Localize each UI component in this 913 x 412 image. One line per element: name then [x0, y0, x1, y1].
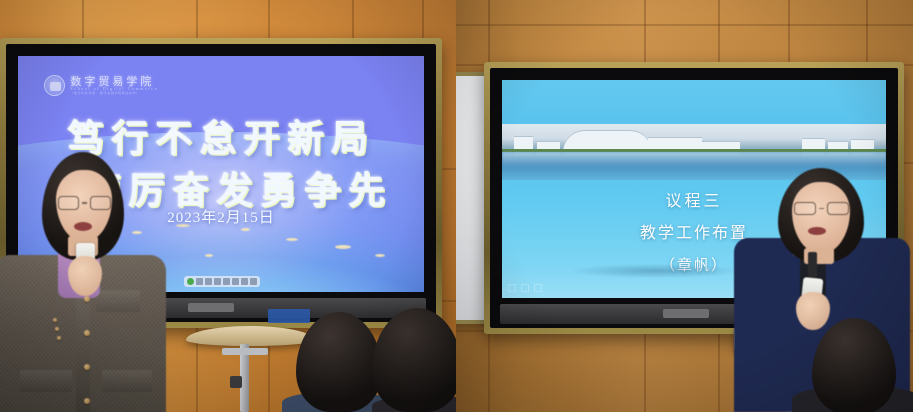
globe-light [132, 231, 142, 234]
bridge [819, 208, 824, 209]
jacket-hip-pocket [102, 370, 152, 392]
school-name-sub: （数字商务学院 · 数字金融学院联合办学） [70, 92, 158, 95]
sleeve-button [57, 336, 61, 340]
jacket-chest-pocket [96, 290, 140, 312]
pointer-icon[interactable] [205, 278, 212, 285]
right-photo-panel: 议程三 教学工作布置 （章帆） [456, 0, 913, 412]
globe-light [335, 245, 351, 249]
next-icon[interactable] [534, 284, 542, 292]
jacket-button [84, 398, 90, 404]
sleeve-button [53, 318, 57, 322]
left-photo-panel: 数字贸易学院 School of Digital Commerce （数字商务学… [0, 0, 456, 412]
prev-icon[interactable] [508, 284, 516, 292]
water-reflection [502, 152, 886, 167]
more-icon[interactable] [250, 278, 257, 285]
bridge [82, 202, 87, 203]
jacket-hip-pocket [20, 370, 72, 392]
jacket-button [84, 330, 90, 336]
lens-right [90, 196, 111, 210]
undo-icon[interactable] [241, 278, 248, 285]
lectern-crossbar-left [222, 348, 268, 355]
university-crest-icon [44, 75, 65, 96]
eyeglasses [794, 202, 849, 215]
pen-icon[interactable] [214, 278, 221, 285]
eyeglasses [58, 196, 111, 210]
shape-icon[interactable] [232, 278, 239, 285]
jacket-button [84, 296, 90, 302]
mouth [808, 227, 826, 235]
tray-nub [663, 309, 709, 318]
play-icon[interactable] [521, 284, 529, 292]
mouth [74, 222, 92, 231]
school-logo: 数字贸易学院 School of Digital Commerce （数字商务学… [44, 75, 158, 96]
photo-collage: 数字贸易学院 School of Digital Commerce （数字商务学… [0, 0, 913, 412]
ppt-nav-controls[interactable] [508, 284, 542, 292]
globe-light [286, 238, 298, 241]
record-icon[interactable] [187, 278, 194, 285]
lectern-clamp-left [230, 376, 242, 388]
grid-icon[interactable] [196, 278, 203, 285]
lens-left [794, 202, 816, 215]
sleeve-button [55, 327, 59, 331]
wall-sign [268, 309, 310, 323]
lens-right [827, 202, 849, 215]
tray-nub [188, 303, 234, 312]
lens-left [58, 196, 79, 210]
jacket-button [84, 364, 90, 370]
ppt-annotation-toolbar[interactable] [184, 276, 260, 287]
eraser-icon[interactable] [223, 278, 230, 285]
wall-seam [456, 24, 913, 26]
